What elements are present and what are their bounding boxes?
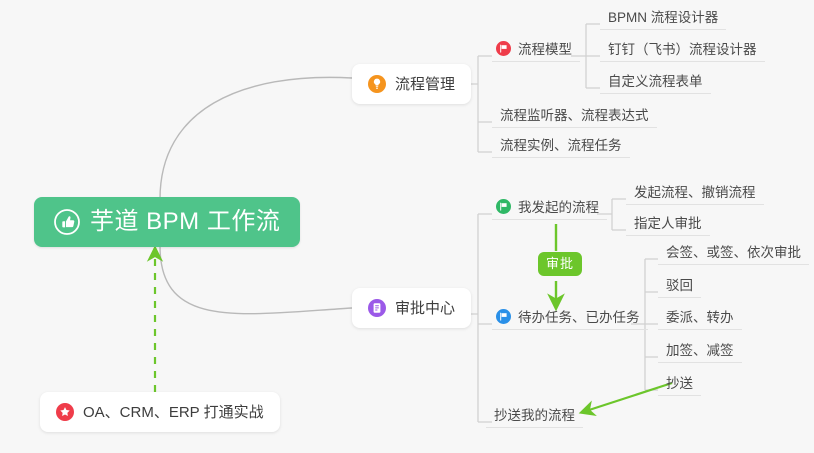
- approval-badge-label: 审批: [546, 256, 574, 271]
- branch-label: 流程管理: [395, 77, 455, 92]
- flag-icon: [496, 309, 511, 324]
- mindmap-canvas: 芋道 BPM 工作流 流程管理 流程模型 BPMN 流程设计器 钉钉（飞书）流程: [0, 0, 814, 453]
- flag-icon: [496, 41, 511, 56]
- branch-process-management[interactable]: 流程管理: [352, 64, 471, 104]
- leaf-cc-to-me[interactable]: 抄送我的流程: [486, 404, 583, 428]
- root-label: 芋道 BPM 工作流: [90, 210, 280, 234]
- leaf-label: 抄送我的流程: [494, 409, 575, 423]
- leaf-add-remove-sign[interactable]: 加签、减签: [658, 339, 742, 363]
- branch-label: 审批中心: [395, 301, 455, 316]
- leaf-countersign[interactable]: 会签、或签、依次审批: [658, 241, 809, 265]
- thumbs-up-icon: [54, 209, 80, 235]
- approval-badge: 审批: [538, 252, 582, 276]
- leaf-todo-done-tasks[interactable]: 待办任务、已办任务: [492, 306, 648, 330]
- star-icon: [56, 403, 74, 421]
- leaf-label: 委派、转办: [666, 311, 734, 325]
- leaf-assignee-approval[interactable]: 指定人审批: [626, 212, 710, 236]
- leaf-delegate-transfer[interactable]: 委派、转办: [658, 306, 742, 330]
- leaf-label: 抄送: [666, 377, 693, 391]
- leaf-label: 会签、或签、依次审批: [666, 246, 801, 260]
- leaf-label: 流程模型: [518, 43, 572, 57]
- leaf-label: 待办任务、已办任务: [518, 311, 640, 325]
- leaf-label: 我发起的流程: [518, 201, 599, 215]
- leaf-bpmn-designer[interactable]: BPMN 流程设计器: [600, 6, 726, 30]
- leaf-start-cancel[interactable]: 发起流程、撤销流程: [626, 181, 764, 205]
- flag-icon: [496, 199, 511, 214]
- leaf-label: 加签、减签: [666, 344, 734, 358]
- leaf-listener-expression[interactable]: 流程监听器、流程表达式: [492, 104, 657, 128]
- document-icon: [368, 299, 386, 317]
- leaf-label: 发起流程、撤销流程: [634, 186, 756, 200]
- leaf-label: 驳回: [666, 279, 693, 293]
- leaf-label: 流程监听器、流程表达式: [500, 109, 649, 123]
- leaf-reject[interactable]: 驳回: [658, 274, 701, 298]
- leaf-label: 钉钉（飞书）流程设计器: [608, 43, 757, 57]
- leaf-label: 自定义流程表单: [608, 75, 703, 89]
- footnote-label: OA、CRM、ERP 打通实战: [83, 405, 264, 420]
- leaf-label: 流程实例、流程任务: [500, 139, 622, 153]
- branch-approval-center[interactable]: 审批中心: [352, 288, 471, 328]
- leaf-label: BPMN 流程设计器: [608, 11, 718, 25]
- lightbulb-icon: [368, 75, 386, 93]
- leaf-dingtalk-feishu-designer[interactable]: 钉钉（飞书）流程设计器: [600, 38, 765, 62]
- leaf-instance-task[interactable]: 流程实例、流程任务: [492, 134, 630, 158]
- leaf-my-initiated[interactable]: 我发起的流程: [492, 196, 607, 220]
- footnote-node[interactable]: OA、CRM、ERP 打通实战: [40, 392, 280, 432]
- root-node[interactable]: 芋道 BPM 工作流: [34, 197, 300, 247]
- leaf-label: 指定人审批: [634, 217, 702, 231]
- leaf-custom-process-form[interactable]: 自定义流程表单: [600, 70, 711, 94]
- leaf-cc[interactable]: 抄送: [658, 372, 701, 396]
- leaf-process-model[interactable]: 流程模型: [492, 38, 580, 62]
